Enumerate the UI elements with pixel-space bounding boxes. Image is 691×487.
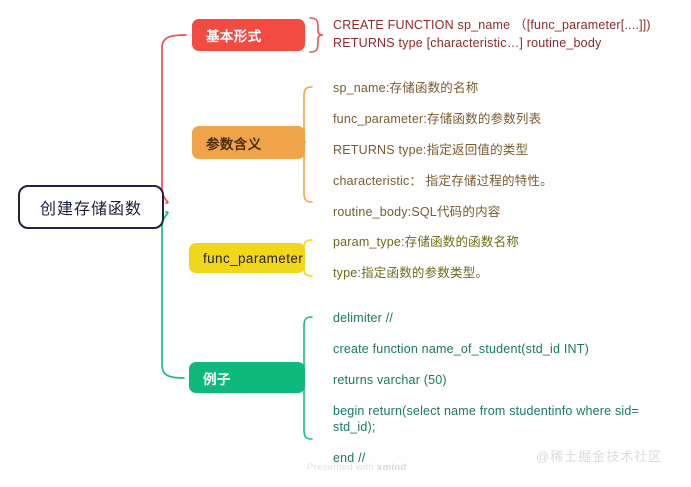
leaf-item: characteristic： 指定存储过程的特性。 [333, 173, 633, 189]
leaf-item: CREATE FUNCTION sp_name （[func_parameter… [333, 16, 663, 34]
wire-root-to-basic [162, 35, 186, 203]
leaf-item: RETURNS type [characteristic…] routine_b… [333, 34, 663, 52]
leaf-item: returns varchar (50) [333, 372, 663, 388]
wire-root-to-example [162, 212, 184, 378]
branch-node-basic-label: 基本形式 [206, 25, 262, 45]
branch-node-example-label: 例子 [203, 368, 231, 388]
leaf-item: type:指定函数的参数类型。 [333, 265, 633, 281]
leaf-item: create function name_of_student(std_id I… [333, 341, 663, 357]
brace-basic [310, 18, 323, 52]
branch-node-func-parameter-label: func_parameter [203, 251, 303, 266]
leaf-item: func_parameter:存储函数的参数列表 [333, 111, 633, 127]
community-watermark: @稀土掘金技术社区 [536, 446, 662, 465]
xmind-watermark-prefix: Presented with [307, 462, 377, 473]
branch-node-params[interactable]: 参数含义 [192, 126, 305, 159]
xmind-watermark: Presented with xmind [307, 462, 406, 473]
leaf-item: begin return(select name from studentinf… [333, 403, 663, 435]
xmind-watermark-brand: xmind [377, 462, 406, 473]
leaf-item: sp_name:存储函数的名称 [333, 80, 633, 96]
leaf-item: delimiter // [333, 310, 663, 326]
leaf-group-basic: CREATE FUNCTION sp_name （[func_parameter… [333, 16, 663, 52]
root-node[interactable]: 创建存储函数 [18, 185, 164, 229]
branch-node-example[interactable]: 例子 [189, 362, 305, 393]
branch-node-func-parameter[interactable]: func_parameter [189, 243, 305, 273]
mindmap-canvas: 创建存储函数 基本形式 CREATE FUNCTION sp_name （[fu… [0, 0, 691, 487]
root-node-label: 创建存储函数 [40, 195, 142, 219]
branch-node-basic[interactable]: 基本形式 [192, 19, 305, 51]
branch-node-params-label: 参数含义 [206, 133, 262, 153]
leaf-item: routine_body:SQL代码的内容 [333, 204, 633, 220]
leaf-item: RETURNS type:指定返回值的类型 [333, 142, 633, 158]
leaf-group-params: sp_name:存储函数的名称 func_parameter:存储函数的参数列表… [333, 80, 633, 235]
leaf-item: param_type:存储函数的函数名称 [333, 234, 633, 250]
leaf-group-func-parameter: param_type:存储函数的函数名称 type:指定函数的参数类型。 [333, 234, 633, 296]
